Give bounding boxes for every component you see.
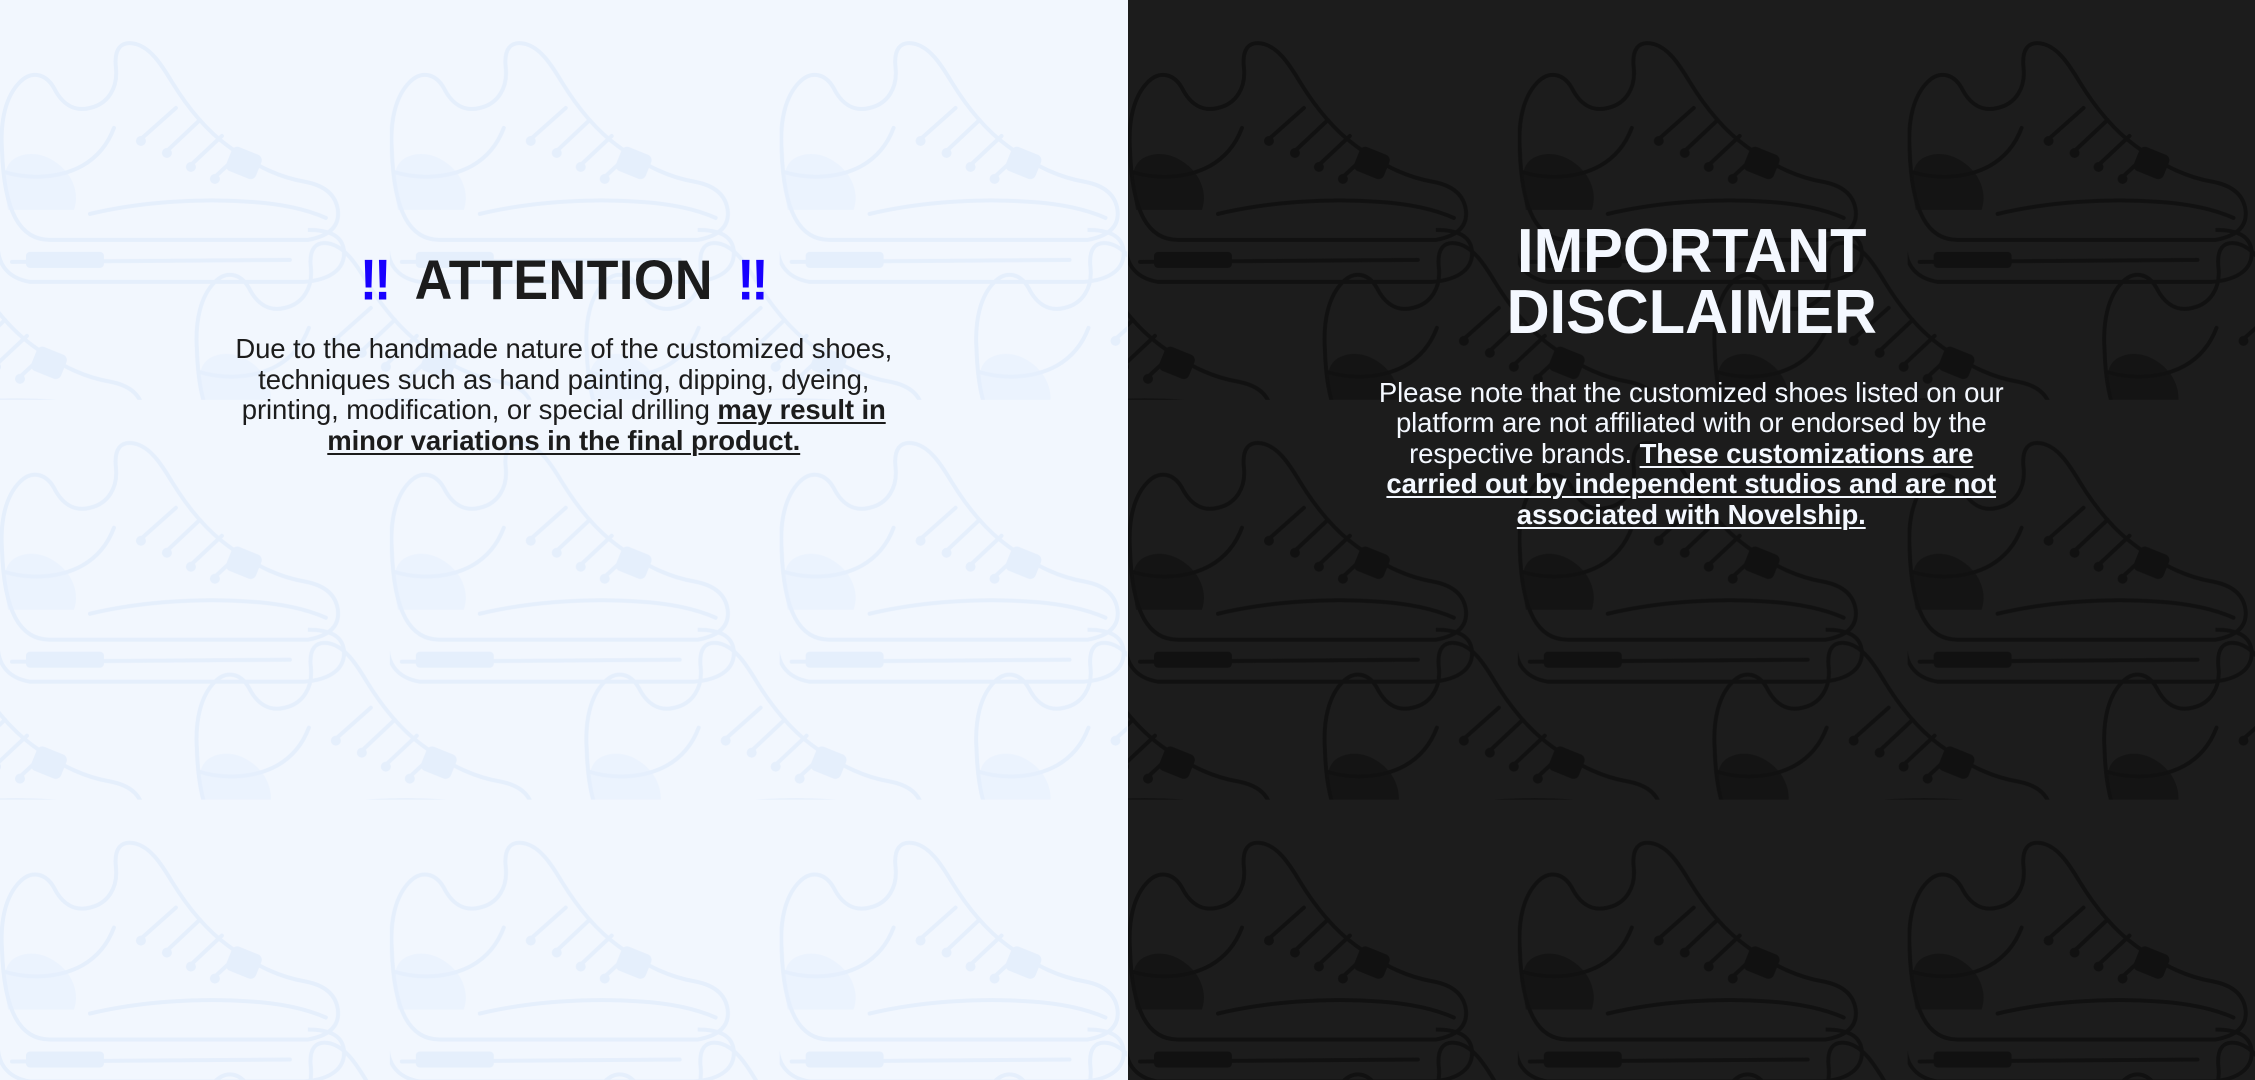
attention-heading-title: ATTENTION (415, 248, 713, 311)
double-exclamation-right-icon: ‼ (737, 251, 768, 308)
disclaimer-heading-line1: IMPORTANT (1517, 217, 1866, 286)
disclaimer-content: IMPORTANT DISCLAIMER Please note that th… (1128, 0, 2255, 530)
attention-content: ‼ATTENTION‼ Due to the handmade nature o… (0, 0, 1128, 456)
disclaimer-heading: IMPORTANT DISCLAIMER (1150, 222, 2232, 344)
disclaimer-body: Please note that the customized shoes li… (1361, 378, 2021, 531)
attention-panel: ‼ATTENTION‼ Due to the handmade nature o… (0, 0, 1128, 1080)
disclaimer-heading-line2: DISCLAIMER (1506, 278, 1876, 347)
double-exclamation-left-icon: ‼ (360, 251, 391, 308)
disclaimer-panel: IMPORTANT DISCLAIMER Please note that th… (1128, 0, 2255, 1080)
attention-body: Due to the handmade nature of the custom… (234, 334, 894, 456)
attention-heading: ‼ATTENTION‼ (39, 252, 1088, 308)
